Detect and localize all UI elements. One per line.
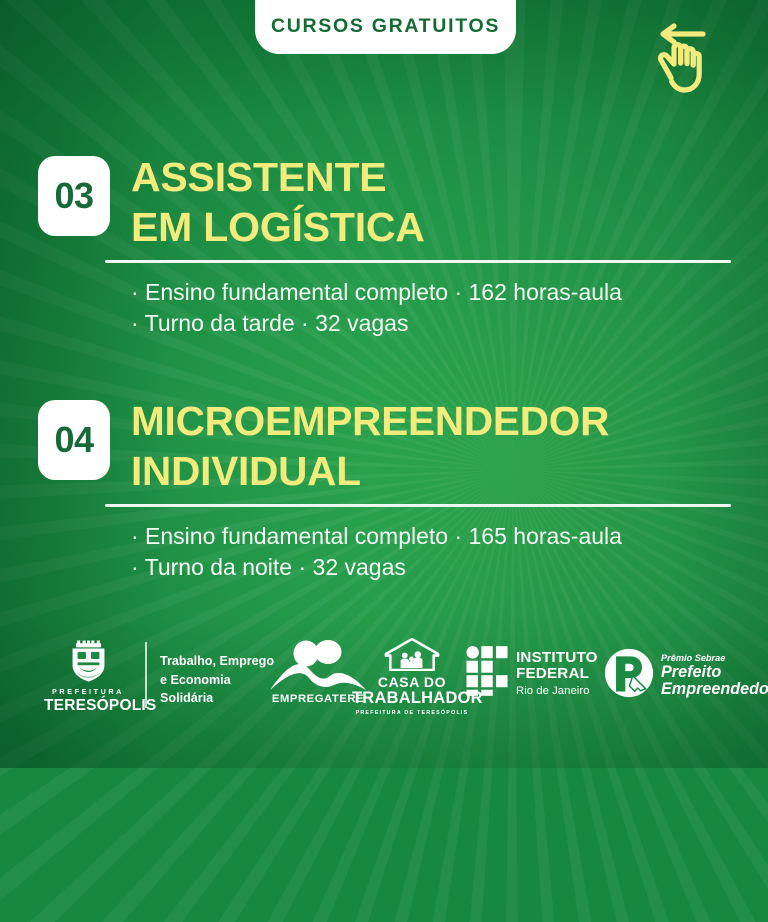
course-title-line-2: INDIVIDUAL bbox=[131, 446, 751, 496]
course-divider bbox=[105, 260, 731, 263]
course-number-badge: 03 bbox=[38, 156, 110, 236]
course-detail-line-1: · Ensino fundamental completo · 165 hora… bbox=[131, 521, 768, 552]
course-detail-line-2: · Turno da tarde · 32 vagas bbox=[131, 308, 768, 339]
cursos-gratuitos-tab: CURSOS GRATUITOS bbox=[255, 0, 516, 54]
teresopolis-coat-of-arms-icon bbox=[44, 636, 132, 684]
prefeito-empreendedor-icon bbox=[604, 648, 654, 703]
secretaria-line-1: Trabalho, Emprego bbox=[160, 652, 274, 671]
prefeitura-label-line-2: TERESÓPOLIS bbox=[44, 697, 132, 715]
logo-premio-sebrae: Prêmio Sebrae Prefeito Empreendedor bbox=[604, 648, 764, 703]
logo-prefeitura-teresopolis: PREFEITURA TERESÓPOLIS bbox=[44, 636, 132, 715]
sebrae-line-3: Empreendedor bbox=[661, 681, 768, 699]
sebrae-wordmark: Prêmio Sebrae Prefeito Empreendedor bbox=[661, 653, 768, 699]
course-divider bbox=[105, 504, 731, 507]
logo-instituto-federal: INSTITUTO FEDERAL Rio de Janeiro bbox=[466, 646, 596, 701]
secretaria-line-3: Solidária bbox=[160, 689, 274, 708]
course-details: · Ensino fundamental completo · 162 hora… bbox=[131, 277, 768, 339]
course-number: 04 bbox=[54, 419, 93, 461]
house-family-icon bbox=[352, 638, 472, 672]
instituto-federal-wordmark: INSTITUTO FEDERAL Rio de Janeiro bbox=[516, 650, 598, 698]
sebrae-line-1: Prêmio Sebrae bbox=[661, 653, 768, 664]
course-title-line-1: ASSISTENTE bbox=[131, 152, 751, 202]
sebrae-line-2: Prefeito bbox=[661, 664, 768, 682]
tab-label: CURSOS GRATUITOS bbox=[271, 15, 500, 38]
course-title-line-2: EM LOGÍSTICA bbox=[131, 202, 751, 252]
course-title: ASSISTENTE EM LOGÍSTICA bbox=[131, 152, 751, 252]
course-number-badge: 04 bbox=[38, 400, 110, 480]
instituto-federal-grid-icon bbox=[466, 646, 508, 701]
if-line-1: INSTITUTO bbox=[516, 650, 598, 667]
course-details: · Ensino fundamental completo · 165 hora… bbox=[131, 521, 768, 583]
swipe-left-hand-icon bbox=[641, 18, 737, 96]
course-number: 03 bbox=[54, 175, 93, 217]
course-detail-line-2: · Turno da noite · 32 vagas bbox=[131, 552, 768, 583]
footer-divider bbox=[145, 642, 147, 708]
casa-line-3: PREFEITURA DE TERESÓPOLIS bbox=[352, 710, 472, 716]
secretaria-line-2: e Economia bbox=[160, 671, 274, 690]
if-line-3: Rio de Janeiro bbox=[516, 684, 598, 698]
logo-casa-do-trabalhador: CASA DO TRABALHADOR PREFEITURA DE TERESÓ… bbox=[352, 638, 472, 716]
if-line-2: FEDERAL bbox=[516, 666, 598, 683]
prefeitura-label-line-1: PREFEITURA bbox=[44, 687, 132, 696]
casa-line-1: CASA DO bbox=[352, 675, 472, 690]
course-detail-line-1: · Ensino fundamental completo · 162 hora… bbox=[131, 277, 768, 308]
label-secretaria-trabalho: Trabalho, Emprego e Economia Solidária bbox=[160, 652, 274, 708]
poster-frame: CURSOS GRATUITOS 03 ASSISTENTE EM LOGÍST… bbox=[0, 0, 768, 768]
course-title: MICROEMPREENDEDOR INDIVIDUAL bbox=[131, 396, 751, 496]
footer-logo-bar: PREFEITURA TERESÓPOLIS Trabalho, Emprego… bbox=[0, 636, 768, 728]
casa-line-2: TRABALHADOR bbox=[352, 690, 472, 707]
course-title-line-1: MICROEMPREENDEDOR bbox=[131, 396, 751, 446]
